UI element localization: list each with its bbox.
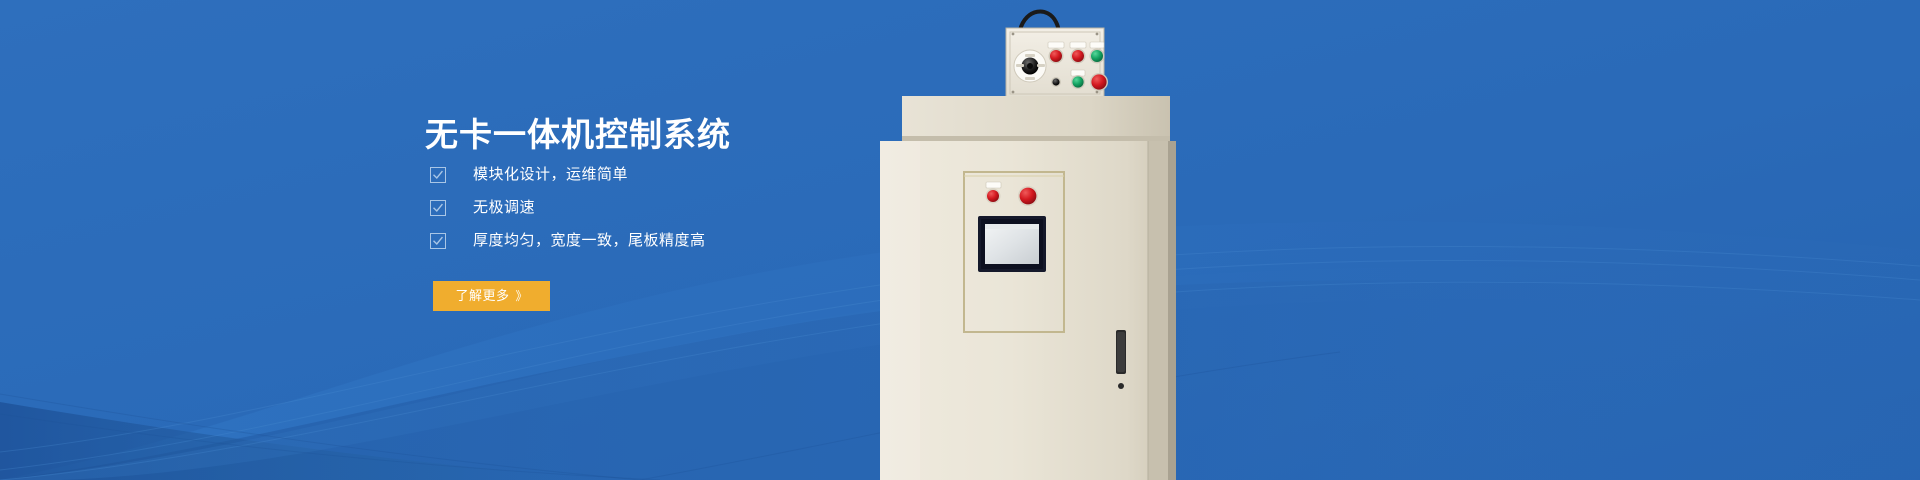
hero-banner: 无卡一体机控制系统 模块化设计，运维简单 无极调速 — [0, 0, 1920, 480]
learn-more-label: 了解更多 — [455, 281, 509, 311]
feature-label: 模块化设计，运维简单 — [473, 163, 628, 187]
checkbox-checked-icon — [430, 200, 446, 216]
checkbox-checked-icon — [430, 233, 446, 249]
learn-more-button[interactable]: 了解更多 》 — [433, 281, 550, 311]
feature-label: 厚度均匀，宽度一致，尾板精度高 — [473, 229, 706, 253]
feature-label: 无极调速 — [473, 196, 535, 220]
machine-photo — [880, 0, 1220, 480]
checkbox-checked-icon — [430, 167, 446, 183]
feature-item-2: 无极调速 — [430, 196, 706, 220]
feature-item-1: 模块化设计，运维简单 — [430, 163, 706, 187]
page-title: 无卡一体机控制系统 — [425, 115, 731, 155]
feature-item-3: 厚度均匀，宽度一致，尾板精度高 — [430, 229, 706, 253]
feature-list: 模块化设计，运维简单 无极调速 厚度均匀，宽度一致，尾板精度高 — [430, 163, 706, 262]
hero-content: 无卡一体机控制系统 模块化设计，运维简单 无极调速 — [0, 0, 920, 480]
double-chevron-right-icon: 》 — [516, 281, 528, 311]
